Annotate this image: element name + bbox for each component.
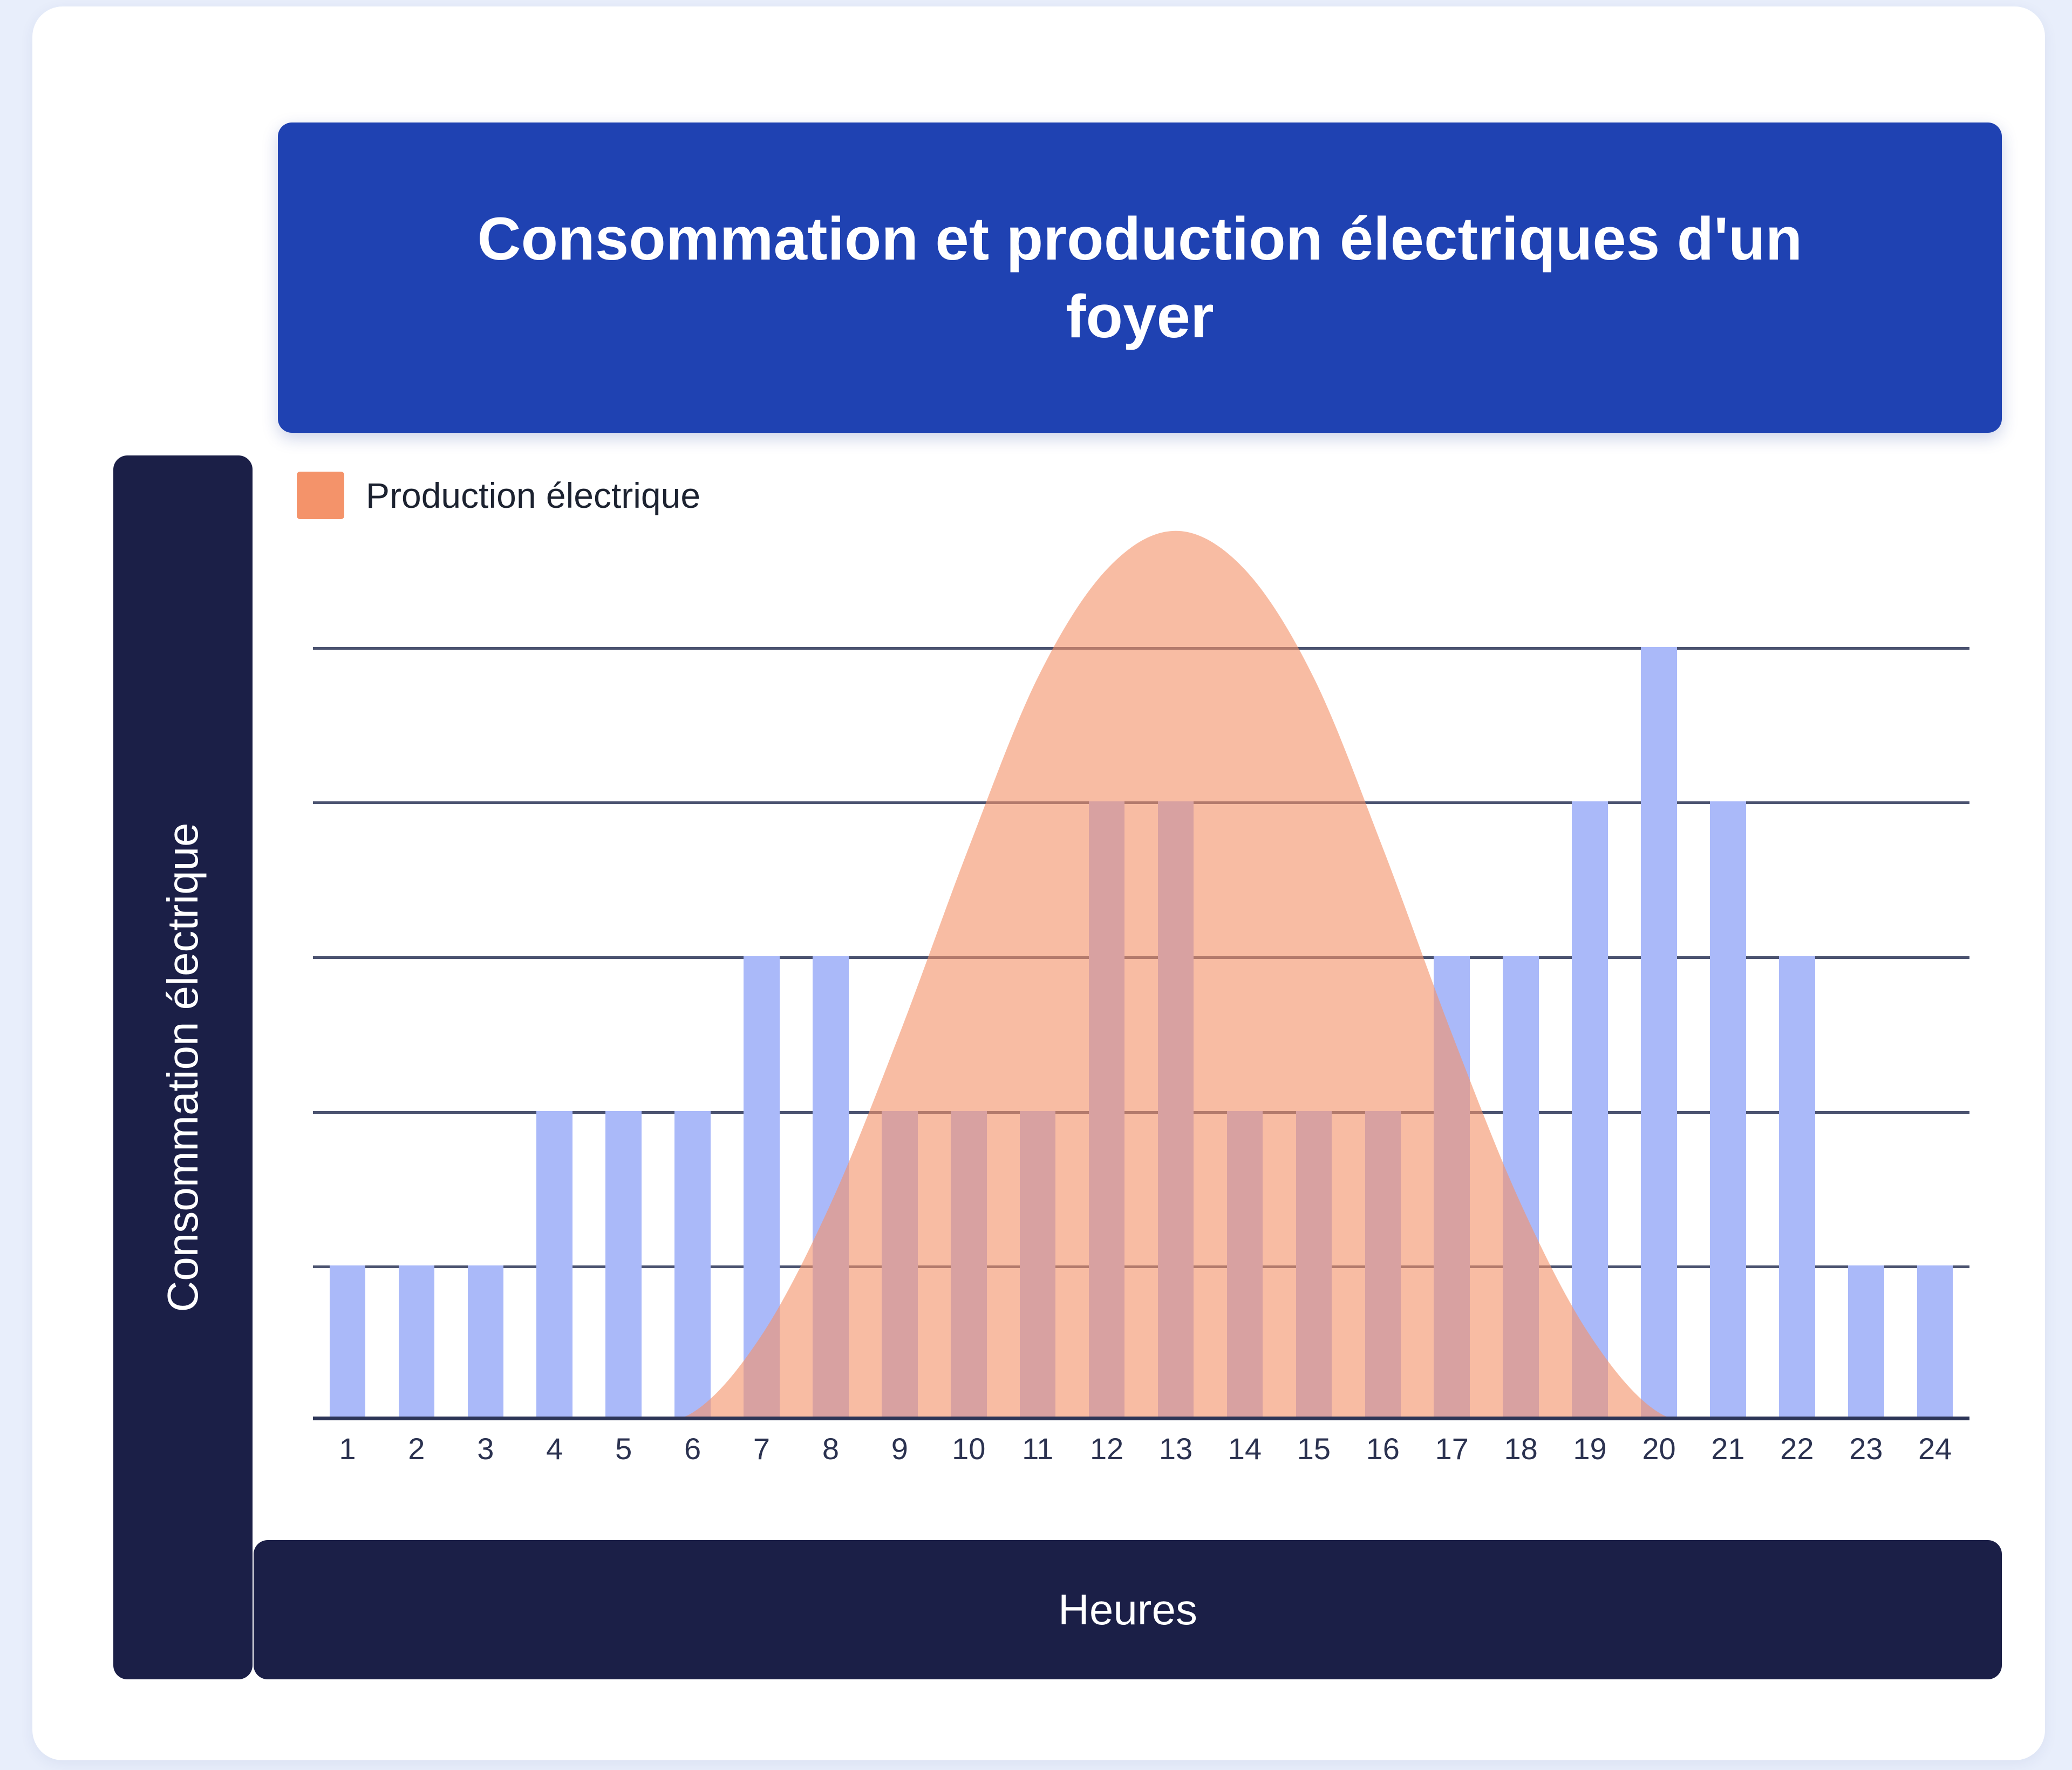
axis-baseline	[313, 1417, 1969, 1420]
bar-slot[interactable]	[451, 492, 520, 1420]
bar-slot[interactable]	[1556, 492, 1625, 1420]
chart-card: Consommation et production électriques d…	[32, 6, 2045, 1760]
x-tick-label: 13	[1141, 1431, 1210, 1490]
bar-slot[interactable]	[313, 492, 382, 1420]
y-axis-title: Consommation électrique	[158, 822, 208, 1312]
bar-hour-23[interactable]	[1848, 1265, 1884, 1420]
bar-hour-3[interactable]	[468, 1265, 504, 1420]
x-tick-label: 19	[1556, 1431, 1625, 1490]
bar-slot[interactable]	[1072, 492, 1141, 1420]
x-tick-label: 6	[658, 1431, 727, 1490]
bar-hour-20[interactable]	[1641, 647, 1677, 1420]
page-title: Consommation et production électriques d…	[466, 200, 1815, 355]
bar-hour-21[interactable]	[1710, 801, 1746, 1420]
bar-hour-7[interactable]	[744, 956, 780, 1420]
bar-hour-5[interactable]	[605, 1111, 642, 1420]
x-tick-label: 18	[1487, 1431, 1556, 1490]
bar-hour-11[interactable]	[1020, 1111, 1056, 1420]
x-tick-label: 23	[1831, 1431, 1900, 1490]
bar-hour-15[interactable]	[1296, 1111, 1332, 1420]
bar-slot[interactable]	[1625, 492, 1694, 1420]
bar-hour-19[interactable]	[1572, 801, 1608, 1420]
x-tick-label: 9	[865, 1431, 934, 1490]
x-tick-label: 1	[313, 1431, 382, 1490]
bar-hour-22[interactable]	[1779, 956, 1815, 1420]
bar-hour-4[interactable]	[536, 1111, 572, 1420]
bar-slot[interactable]	[1762, 492, 1831, 1420]
x-axis-title: Heures	[1058, 1585, 1197, 1635]
x-tick-label: 20	[1625, 1431, 1694, 1490]
bar-hour-1[interactable]	[330, 1265, 366, 1420]
bar-hour-13[interactable]	[1158, 801, 1194, 1420]
bar-hour-16[interactable]	[1365, 1111, 1401, 1420]
bar-hour-8[interactable]	[813, 956, 849, 1420]
bar-slot[interactable]	[1831, 492, 1900, 1420]
x-tick-label: 22	[1762, 1431, 1831, 1490]
x-tick-label: 2	[382, 1431, 451, 1490]
x-axis-label-bar: Heures	[254, 1540, 2002, 1679]
x-tick-label: 16	[1348, 1431, 1417, 1490]
bar-slot[interactable]	[520, 492, 589, 1420]
bar-slot[interactable]	[1279, 492, 1348, 1420]
bar-slot[interactable]	[727, 492, 796, 1420]
x-tick-label: 3	[451, 1431, 520, 1490]
x-tick-label: 12	[1072, 1431, 1141, 1490]
bar-hour-24[interactable]	[1917, 1265, 1953, 1420]
x-tick-label: 7	[727, 1431, 796, 1490]
bar-slot[interactable]	[1487, 492, 1556, 1420]
x-tick-label: 17	[1417, 1431, 1487, 1490]
x-tick-label: 5	[589, 1431, 658, 1490]
bar-slot[interactable]	[1141, 492, 1210, 1420]
x-tick-label: 11	[1003, 1431, 1072, 1490]
bar-series-consommation	[313, 492, 1969, 1420]
bar-hour-9[interactable]	[882, 1111, 918, 1420]
bar-slot[interactable]	[1417, 492, 1487, 1420]
bar-slot[interactable]	[865, 492, 934, 1420]
bar-hour-10[interactable]	[951, 1111, 987, 1420]
x-tick-label: 4	[520, 1431, 589, 1490]
x-tick-label: 15	[1279, 1431, 1348, 1490]
bar-slot[interactable]	[1900, 492, 1969, 1420]
y-axis-label-bar: Consommation électrique	[113, 455, 253, 1679]
bar-slot[interactable]	[1210, 492, 1279, 1420]
bar-hour-18[interactable]	[1503, 956, 1539, 1420]
chart-title-banner: Consommation et production électriques d…	[278, 122, 2002, 433]
bar-slot[interactable]	[589, 492, 658, 1420]
bar-slot[interactable]	[382, 492, 451, 1420]
bar-slot[interactable]	[1348, 492, 1417, 1420]
x-tick-label: 8	[796, 1431, 865, 1490]
x-tick-label: 14	[1210, 1431, 1279, 1490]
x-tick-label: 24	[1900, 1431, 1969, 1490]
bar-hour-2[interactable]	[399, 1265, 435, 1420]
x-tick-label: 21	[1693, 1431, 1762, 1490]
x-tick-label: 10	[934, 1431, 1003, 1490]
bar-hour-6[interactable]	[674, 1111, 711, 1420]
bar-slot[interactable]	[934, 492, 1003, 1420]
bar-hour-12[interactable]	[1089, 801, 1125, 1420]
x-axis-ticklabels: 123456789101112131415161718192021222324	[313, 1431, 1969, 1490]
bar-slot[interactable]	[796, 492, 865, 1420]
bar-slot[interactable]	[658, 492, 727, 1420]
plot-area	[313, 492, 1969, 1420]
bar-hour-17[interactable]	[1434, 956, 1470, 1420]
bar-hour-14[interactable]	[1227, 1111, 1263, 1420]
bar-slot[interactable]	[1003, 492, 1072, 1420]
bar-slot[interactable]	[1693, 492, 1762, 1420]
